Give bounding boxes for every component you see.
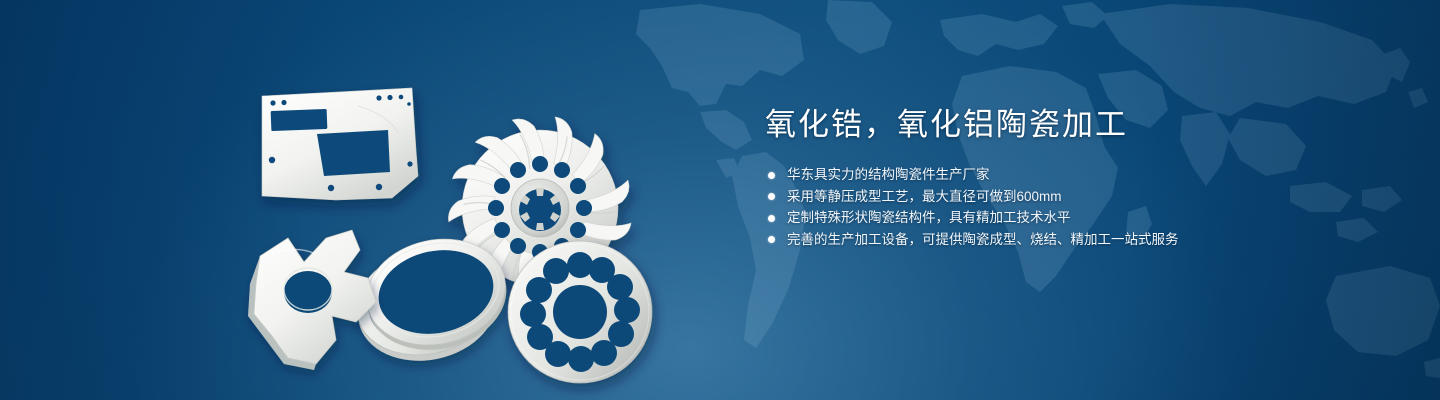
bullet-dot-icon bbox=[768, 172, 775, 179]
ceramic-perforated-ring bbox=[508, 241, 652, 383]
list-item: 定制特殊形状陶瓷结构件，具有精加工技术水平 bbox=[765, 207, 1385, 229]
list-item-label: 定制特殊形状陶瓷结构件，具有精加工技术水平 bbox=[787, 210, 1071, 225]
list-item-label: 采用等静压成型工艺，最大直径可做到600mm bbox=[787, 189, 1062, 204]
bullet-dot-icon bbox=[768, 193, 775, 200]
feature-list: 华东具实力的结构陶瓷件生产厂家 采用等静压成型工艺，最大直径可做到600mm 定… bbox=[765, 164, 1385, 250]
page-title: 氧化锆，氧化铝陶瓷加工 bbox=[765, 104, 1385, 146]
list-item: 华东具实力的结构陶瓷件生产厂家 bbox=[765, 164, 1385, 186]
ceramic-plate-with-cutouts bbox=[262, 88, 418, 200]
bullet-dot-icon bbox=[768, 215, 775, 222]
ceramic-cross-plate bbox=[248, 230, 376, 370]
list-item: 完善的生产加工设备，可提供陶瓷成型、烧结、精加工一站式服务 bbox=[765, 229, 1385, 251]
list-item-label: 华东具实力的结构陶瓷件生产厂家 bbox=[787, 167, 990, 182]
promo-banner: 氧化锆，氧化铝陶瓷加工 华东具实力的结构陶瓷件生产厂家 采用等静压成型工艺，最大… bbox=[0, 0, 1440, 400]
ceramic-parts-photo bbox=[240, 40, 700, 390]
banner-text-column: 氧化锆，氧化铝陶瓷加工 华东具实力的结构陶瓷件生产厂家 采用等静压成型工艺，最大… bbox=[765, 104, 1385, 250]
list-item-label: 完善的生产加工设备，可提供陶瓷成型、烧结、精加工一站式服务 bbox=[787, 232, 1179, 247]
list-item: 采用等静压成型工艺，最大直径可做到600mm bbox=[765, 186, 1385, 208]
bullet-dot-icon bbox=[768, 236, 775, 243]
